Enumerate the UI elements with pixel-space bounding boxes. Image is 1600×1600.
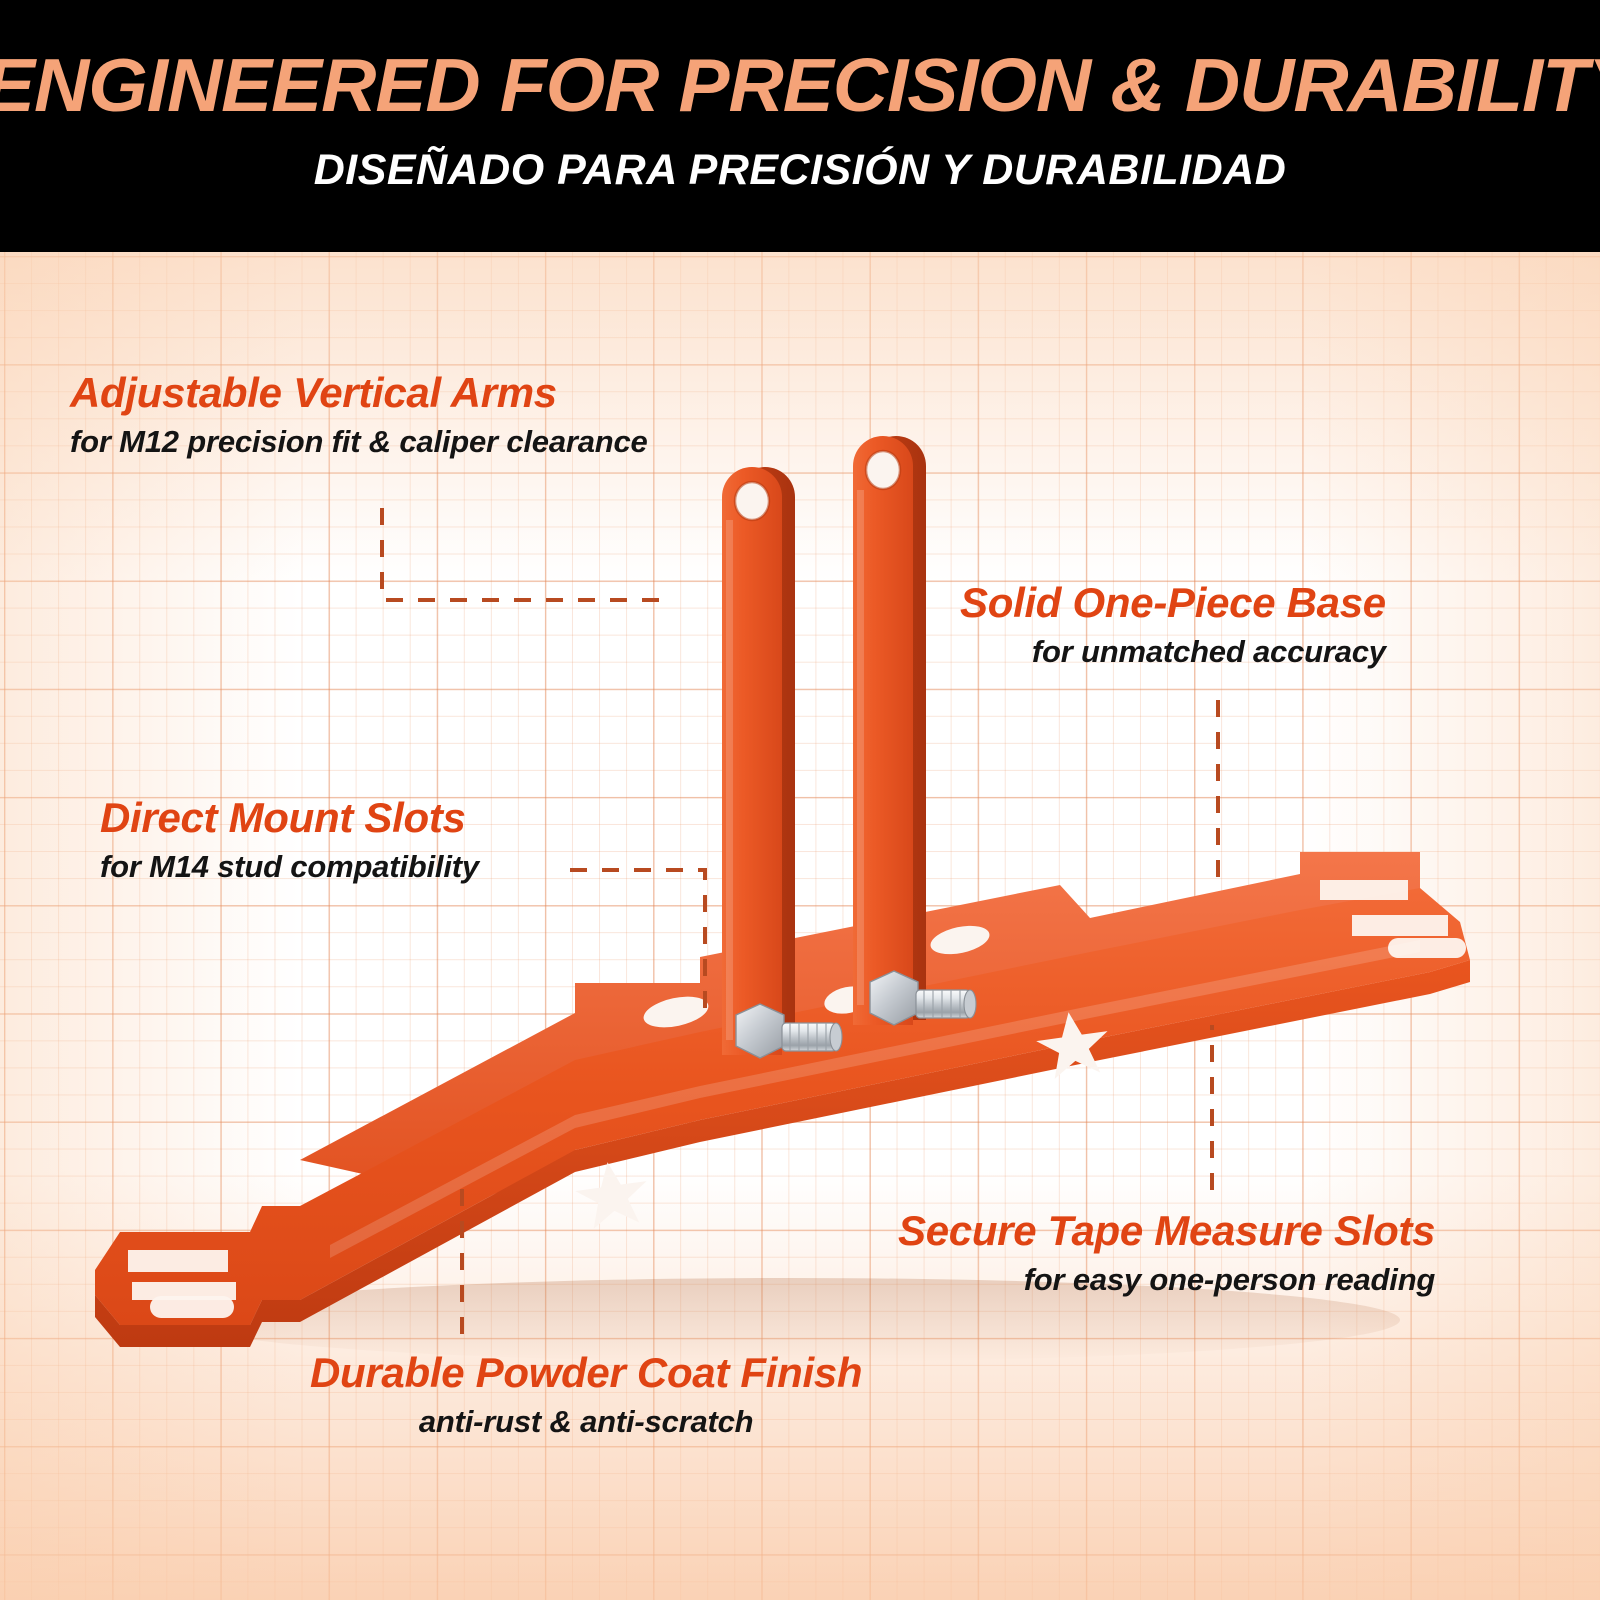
page-title: ENGINEERED FOR PRECISION & DURABILITY <box>0 44 1600 126</box>
page-subtitle: DISEÑADO PARA PRECISIÓN Y DURABILIDAD <box>0 145 1600 195</box>
callout-solid-one-piece-base: Solid One-Piece Base for unmatched accur… <box>960 578 1386 672</box>
callout-subtitle: for easy one-person reading <box>898 1260 1435 1300</box>
callout-direct-mount-slots: Direct Mount Slots for M14 stud compatib… <box>100 793 479 887</box>
callout-title: Durable Powder Coat Finish <box>310 1348 862 1398</box>
callout-title: Direct Mount Slots <box>100 793 479 843</box>
callout-title: Solid One-Piece Base <box>960 578 1386 628</box>
callout-subtitle: for unmatched accuracy <box>960 632 1386 672</box>
callout-subtitle: for M12 precision fit & caliper clearanc… <box>70 422 648 462</box>
callout-title: Secure Tape Measure Slots <box>898 1206 1435 1256</box>
infographic-canvas: ENGINEERED FOR PRECISION & DURABILITY DI… <box>0 0 1600 1600</box>
callout-subtitle: anti-rust & anti-scratch <box>310 1402 862 1442</box>
header-band: ENGINEERED FOR PRECISION & DURABILITY DI… <box>0 0 1600 252</box>
callout-adjustable-vertical-arms: Adjustable Vertical Arms for M12 precisi… <box>70 368 648 462</box>
callout-title: Adjustable Vertical Arms <box>70 368 648 418</box>
callout-secure-tape-measure-slots: Secure Tape Measure Slots for easy one-p… <box>898 1206 1435 1300</box>
callout-subtitle: for M14 stud compatibility <box>100 847 479 887</box>
callout-durable-powder-coat-finish: Durable Powder Coat Finish anti-rust & a… <box>310 1348 862 1442</box>
